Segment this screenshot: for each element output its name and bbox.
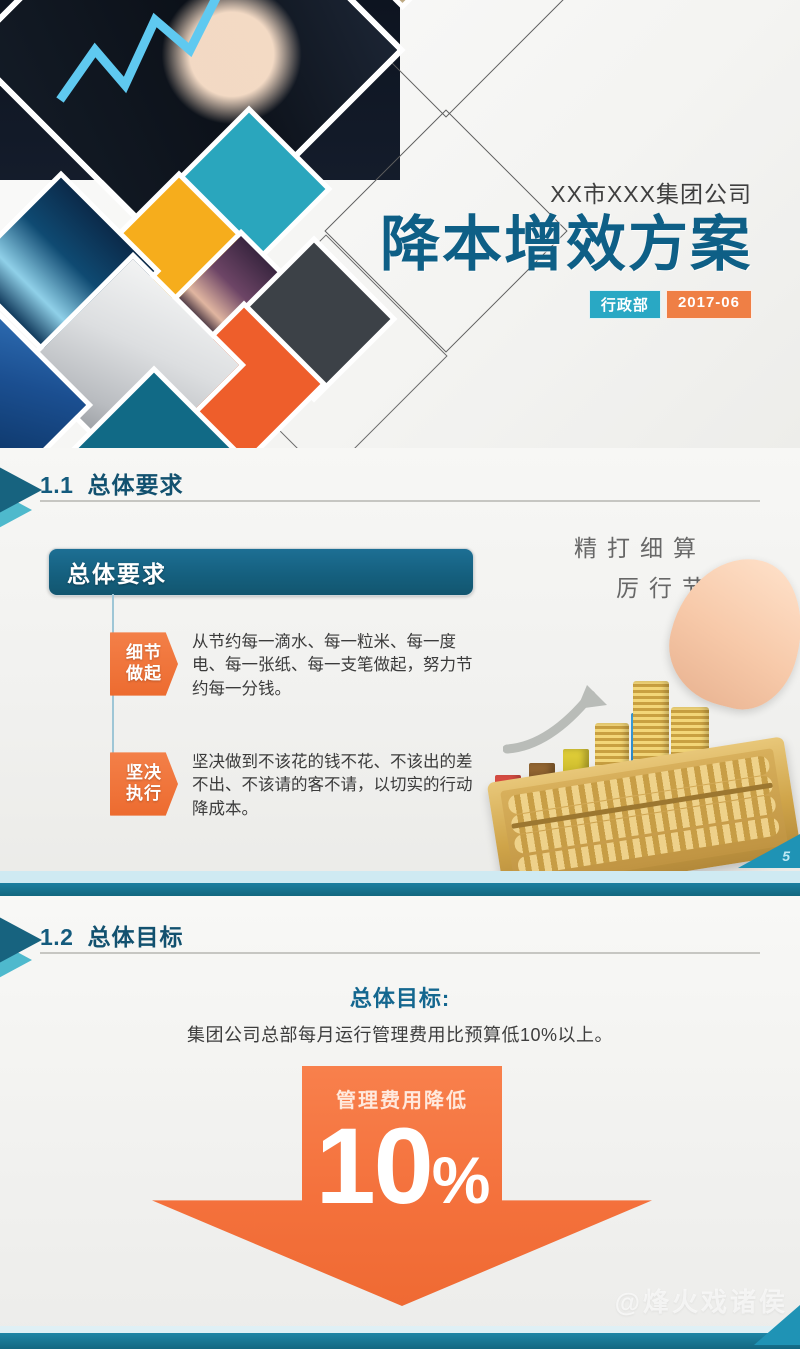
department-badge: 行政部 <box>589 290 661 319</box>
section-heading: 1.2 总体目标 <box>40 918 183 952</box>
slogan-line-1: 精打细算 <box>574 528 748 568</box>
section-number: 1.2 <box>40 924 73 951</box>
page-title: 降本增效方案 <box>380 213 752 278</box>
goal-arrow-graphic: 管理费用降低 10% <box>152 1066 652 1306</box>
requirement-item: 细节 做起 从节约每一滴水、每一粒米、每一度电、每一张纸、每一支笔做起，努力节约… <box>110 628 474 701</box>
requirement-banner: 总体要求 <box>48 548 474 596</box>
date-badge: 2017-06 <box>666 290 752 319</box>
section-divider-rule <box>40 952 760 954</box>
tag-line-1: 细节 <box>126 643 162 664</box>
title-badges: 行政部 2017-06 <box>380 290 752 319</box>
section-overall-goal-slide: 1.2 总体目标 总体目标: 集团公司总部每月运行管理费用比预算低10%以上。 … <box>0 896 800 1349</box>
requirement-item-text: 坚决做到不该花的钱不花、不该出的差不出、不该请的客不请，以切实的行动降成本。 <box>192 748 474 821</box>
section-heading: 1.1 总体要求 <box>40 466 183 500</box>
requirement-item-tag: 坚决 执行 <box>110 748 178 820</box>
footer-corner-triangle <box>754 1305 800 1345</box>
slide-band-light <box>0 871 800 883</box>
arrow-percent-sign: % <box>432 1143 489 1217</box>
requirement-item-tag: 细节 做起 <box>110 628 178 700</box>
title-text-block: XX市XXX集团公司 降本增效方案 行政部 2017-06 <box>380 175 752 319</box>
goal-heading: 总体目标: <box>0 981 800 1013</box>
section-divider-rule <box>40 500 760 502</box>
tag-line-1: 坚决 <box>126 763 162 784</box>
arrow-value: 10% <box>152 1112 652 1220</box>
section-overall-requirement-slide: 1.1 总体要求 总体要求 细节 做起 从节约每一滴水、每一粒米、每一度电、每一… <box>0 448 800 896</box>
company-subtitle: XX市XXX集团公司 <box>380 175 752 209</box>
footer-band-light <box>0 1326 800 1333</box>
requirement-banner-label: 总体要求 <box>67 555 167 589</box>
footer-band-dark <box>0 1333 800 1349</box>
section-number: 1.1 <box>40 472 73 499</box>
title-slide: XX市XXX集团公司 降本增效方案 行政部 2017-06 <box>0 0 800 448</box>
section-name: 总体目标 <box>87 918 183 952</box>
goal-text: 集团公司总部每月运行管理费用比预算低10%以上。 <box>0 1021 800 1047</box>
tag-line-2: 做起 <box>126 664 162 685</box>
requirement-item: 坚决 执行 坚决做到不该花的钱不花、不该出的差不出、不该请的客不请，以切实的行动… <box>110 748 474 821</box>
presentation-page: XX市XXX集团公司 降本增效方案 行政部 2017-06 1.1 总体要求 总… <box>0 0 800 1349</box>
page-number: 5 <box>782 848 790 864</box>
page-number-corner: 5 <box>738 834 800 868</box>
arrow-number: 10 <box>316 1105 432 1226</box>
requirement-item-text: 从节约每一滴水、每一粒米、每一度电、每一张纸、每一支笔做起，努力节约每一分钱。 <box>192 628 474 701</box>
tag-line-2: 执行 <box>126 784 162 805</box>
slide-band-dark <box>0 883 800 896</box>
section-name: 总体要求 <box>87 466 183 500</box>
